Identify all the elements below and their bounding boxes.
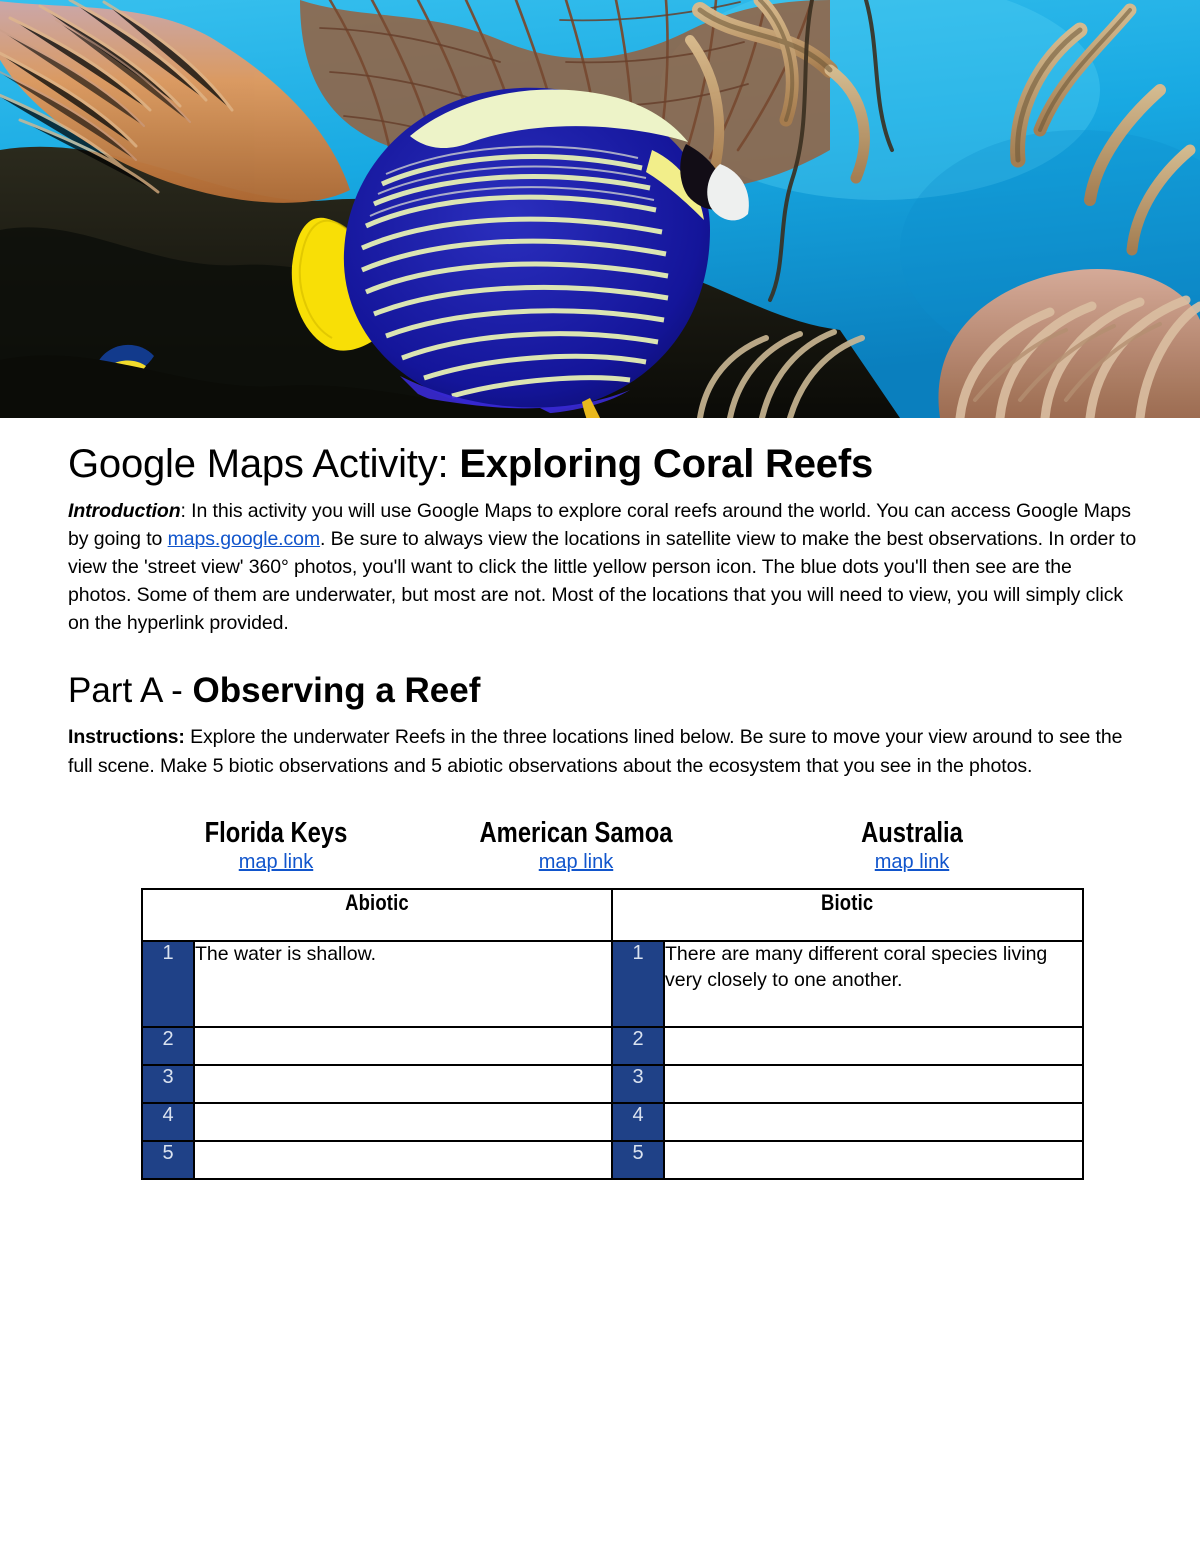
map-link-australia[interactable]: map link	[875, 851, 949, 874]
abiotic-observation-cell[interactable]	[194, 1103, 612, 1141]
map-link-american-samoa[interactable]: map link	[539, 851, 613, 874]
column-header-abiotic: Abiotic	[142, 889, 612, 941]
coral-reef-illustration	[0, 0, 1200, 418]
biotic-observation-cell[interactable]	[664, 1141, 1083, 1179]
introduction-paragraph: Introduction: In this activity you will …	[68, 497, 1140, 637]
part-a-heading-bold: Observing a Reef	[193, 671, 481, 710]
part-a-heading: Part A - Observing a Reef	[68, 671, 1140, 711]
instructions-paragraph: Instructions: Explore the underwater Ree…	[68, 723, 1140, 779]
table-row: 4 4	[142, 1103, 1083, 1141]
table-row: 1 The water is shallow. 1 There are many…	[142, 941, 1083, 1027]
observations-table: Abiotic Biotic 1 The water is shallow. 1…	[141, 888, 1084, 1180]
row-number-abiotic: 2	[142, 1027, 194, 1065]
coral-reef-hero-photo	[0, 0, 1200, 418]
biotic-observation-cell[interactable]: There are many different coral species l…	[664, 941, 1083, 1027]
location-name: American Samoa	[441, 818, 712, 848]
row-number-abiotic: 5	[142, 1141, 194, 1179]
maps-google-link[interactable]: maps.google.com	[168, 528, 320, 550]
row-number-abiotic: 4	[142, 1103, 194, 1141]
abiotic-observation-cell[interactable]	[194, 1141, 612, 1179]
page-title-bold: Exploring Coral Reefs	[459, 442, 873, 486]
row-number-biotic: 4	[612, 1103, 664, 1141]
row-number-abiotic: 1	[142, 941, 194, 1027]
table-row: 2 2	[142, 1027, 1083, 1065]
row-number-biotic: 2	[612, 1027, 664, 1065]
biotic-observation-cell[interactable]	[664, 1027, 1083, 1065]
table-header-row: Abiotic Biotic	[142, 889, 1083, 941]
table-row: 5 5	[142, 1141, 1083, 1179]
column-header-biotic: Biotic	[612, 889, 1083, 941]
instructions-label: Instructions:	[68, 726, 185, 748]
location-name: Florida Keys	[165, 818, 386, 848]
page-title-plain: Google Maps Activity:	[68, 442, 459, 486]
location-name: Australia	[772, 818, 1052, 848]
location-florida-keys: Florida Keys map link	[141, 818, 411, 874]
worksheet-body: Google Maps Activity: Exploring Coral Re…	[0, 442, 1200, 1180]
row-number-biotic: 1	[612, 941, 664, 1027]
row-number-biotic: 5	[612, 1141, 664, 1179]
biotic-observation-cell[interactable]	[664, 1103, 1083, 1141]
row-number-biotic: 3	[612, 1065, 664, 1103]
introduction-label: Introduction	[68, 500, 181, 522]
instructions-text: Explore the underwater Reefs in the thre…	[68, 726, 1122, 776]
location-links-row: Florida Keys map link American Samoa map…	[141, 818, 1083, 874]
map-link-florida-keys[interactable]: map link	[239, 851, 313, 874]
abiotic-observation-cell[interactable]: The water is shallow.	[194, 941, 612, 1027]
location-australia: Australia map link	[741, 818, 1083, 874]
page-title: Google Maps Activity: Exploring Coral Re…	[68, 442, 1140, 487]
table-row: 3 3	[142, 1065, 1083, 1103]
row-number-abiotic: 3	[142, 1065, 194, 1103]
location-american-samoa: American Samoa map link	[411, 818, 741, 874]
abiotic-observation-cell[interactable]	[194, 1065, 612, 1103]
biotic-observation-cell[interactable]	[664, 1065, 1083, 1103]
abiotic-observation-cell[interactable]	[194, 1027, 612, 1065]
part-a-heading-plain: Part A -	[68, 671, 193, 710]
